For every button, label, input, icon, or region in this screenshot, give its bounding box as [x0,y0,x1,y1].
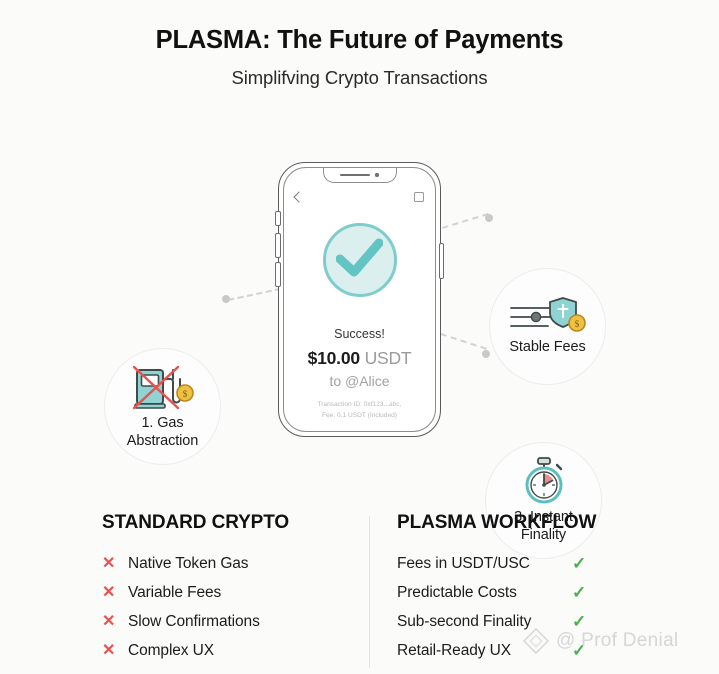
list-item: Predictable Costs ✓ [382,578,672,607]
phone-mockup: Success! $10.00 USDT to @Alice Transacti… [278,162,441,437]
square-icon[interactable] [414,192,424,202]
screen-nav-bar [295,192,424,202]
list-item-label: Variable Fees [128,584,221,602]
phone-volume-up-button[interactable] [275,233,281,258]
column-divider [369,516,370,668]
phone-power-button[interactable] [439,243,445,279]
plasma-workflow-heading: PLASMA WORKFLOW [382,512,672,534]
cross-icon: ✕ [102,643,128,659]
connector-line-finality [440,333,486,350]
callout-gas-line1: 1. Gas [127,415,198,433]
svg-text:$: $ [182,389,187,399]
list-item: ✕ Variable Fees [72,578,362,607]
header: PLASMA: The Future of Payments Simplifvi… [0,26,719,89]
phone-volume-down-button[interactable] [275,262,281,287]
connector-dot-finality [482,350,490,358]
page-title: PLASMA: The Future of Payments [0,26,719,55]
transaction-summary: Success! $10.00 USDT to @Alice Transacti… [292,327,427,421]
amount-ticker: USDT [365,348,412,368]
hero-illustration: Success! $10.00 USDT to @Alice Transacti… [0,120,719,480]
phone-screen: Success! $10.00 USDT to @Alice Transacti… [283,167,436,432]
list-item-label: Native Token Gas [128,555,248,573]
success-label: Success! [292,327,427,341]
list-item: Sub-second Finality ✓ [382,607,672,636]
list-item: Fees in USDT/USC ✓ [382,549,672,578]
list-item-label: Complex UX [128,642,214,660]
list-item: Retail-Ready UX ✓ [382,636,672,665]
amount-line: $10.00 USDT [292,348,427,369]
transaction-fineprint: Transaction ID: 0xf123...abc, Fee: 0.1 U… [292,400,427,421]
callout-stable-line1: Stable Fees [509,339,585,357]
list-item-label: Fees in USDT/USC [397,555,572,573]
check-circle-icon [323,223,397,297]
list-item-label: Retail-Ready UX [397,642,572,660]
check-icon: ✓ [572,613,586,630]
cross-icon: ✕ [102,556,128,572]
list-item: ✕ Slow Confirmations [72,607,362,636]
list-item-label: Slow Confirmations [128,613,260,631]
front-camera-icon [375,173,378,176]
svg-text:$: $ [574,319,579,329]
comparison-section: STANDARD CRYPTO ✕ Native Token Gas ✕ Var… [0,512,719,674]
gas-pump-crossed-out-icon: $ [130,362,196,412]
check-icon: ✓ [572,642,586,659]
standard-crypto-column: STANDARD CRYPTO ✕ Native Token Gas ✕ Var… [72,512,362,665]
callout-stable-fees: $ Stable Fees [489,268,606,385]
list-item-label: Sub-second Finality [397,613,572,631]
check-icon: ✓ [572,584,586,601]
earpiece-speaker-icon [340,174,370,176]
callout-stable-fees-label: Stable Fees [502,339,592,357]
amount-value: $10.00 [308,348,360,368]
check-icon: ✓ [572,555,586,572]
list-item: ✕ Native Token Gas [72,549,362,578]
recipient-label: to @Alice [292,373,427,389]
connector-line-gas [228,288,281,301]
phone-notch [323,168,397,183]
fee-note: Fee: 0.1 USDT (Included) [292,411,427,422]
callout-gas-abstraction-label: 1. Gas Abstraction [120,415,205,450]
page-subtitle: Simplifving Crypto Transactions [0,67,719,89]
list-item-label: Predictable Costs [397,584,572,602]
slider-shield-coin-icon: $ [508,296,588,336]
cross-icon: ✕ [102,614,128,630]
connector-line-stable [442,213,488,229]
back-chevron-icon[interactable] [293,191,304,202]
callout-gas-abstraction: $ 1. Gas Abstraction [104,348,221,465]
cross-icon: ✕ [102,585,128,601]
phone-silent-switch[interactable] [275,211,281,226]
connector-dot-gas [222,295,230,303]
standard-crypto-heading: STANDARD CRYPTO [72,512,362,534]
connector-dot-stable [485,214,493,222]
transaction-id: Transaction ID: 0xf123...abc, [292,400,427,411]
stopwatch-icon [519,456,569,506]
list-item: ✕ Complex UX [72,636,362,665]
plasma-workflow-column: PLASMA WORKFLOW Fees in USDT/USC ✓ Predi… [382,512,672,665]
callout-gas-line2: Abstraction [127,433,198,451]
